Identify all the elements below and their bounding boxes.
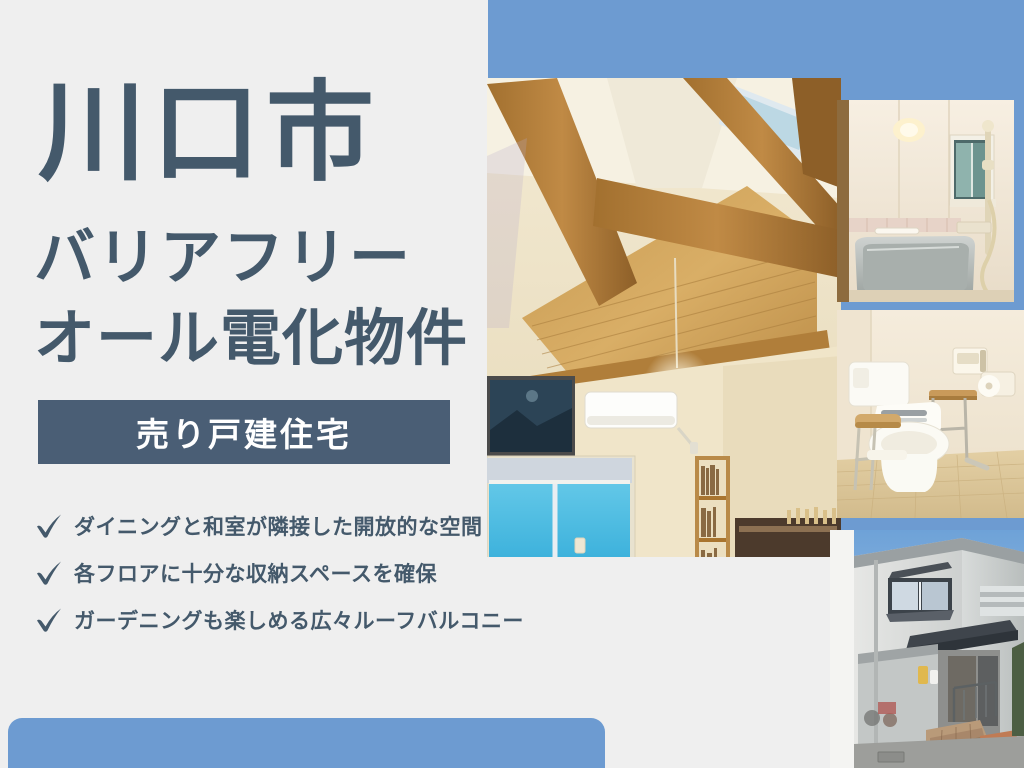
photo-exterior-image <box>830 530 1024 768</box>
page-subtitle-barrier-free: バリアフリー <box>34 225 412 291</box>
list-item-label: ガーデニングも楽しめる広々ルーフバルコニー <box>74 605 524 635</box>
page-title-city: 川口市 <box>38 76 380 189</box>
banner-canvas: 川口市 バリアフリー オール電化物件 売り戸建住宅 ダイニングと和室が隣接した開… <box>0 0 1024 768</box>
list-item-label: ダイニングと和室が隣接した開放的な空間 <box>74 511 483 541</box>
status-badge: 売り戸建住宅 <box>38 400 450 464</box>
photo-bathroom-image <box>837 100 1014 302</box>
list-item-label: 各フロアに十分な収納スペースを確保 <box>74 558 437 588</box>
list-item: ガーデニングも楽しめる広々ルーフバルコニー <box>34 597 614 642</box>
check-icon <box>34 558 64 588</box>
check-icon <box>34 605 64 635</box>
photo-bathroom <box>837 100 1014 302</box>
photo-exterior <box>830 530 1024 768</box>
photo-toilet-image <box>837 310 1024 518</box>
photo-living-room <box>487 78 841 557</box>
text-column: 川口市 バリアフリー オール電化物件 売り戸建住宅 ダイニングと和室が隣接した開… <box>0 0 488 768</box>
status-badge-label: 売り戸建住宅 <box>136 408 352 456</box>
photo-living-room-image <box>487 78 841 557</box>
check-icon <box>34 511 64 541</box>
photo-toilet <box>837 310 1024 518</box>
page-subtitle-all-electric: オール電化物件 <box>34 306 468 372</box>
